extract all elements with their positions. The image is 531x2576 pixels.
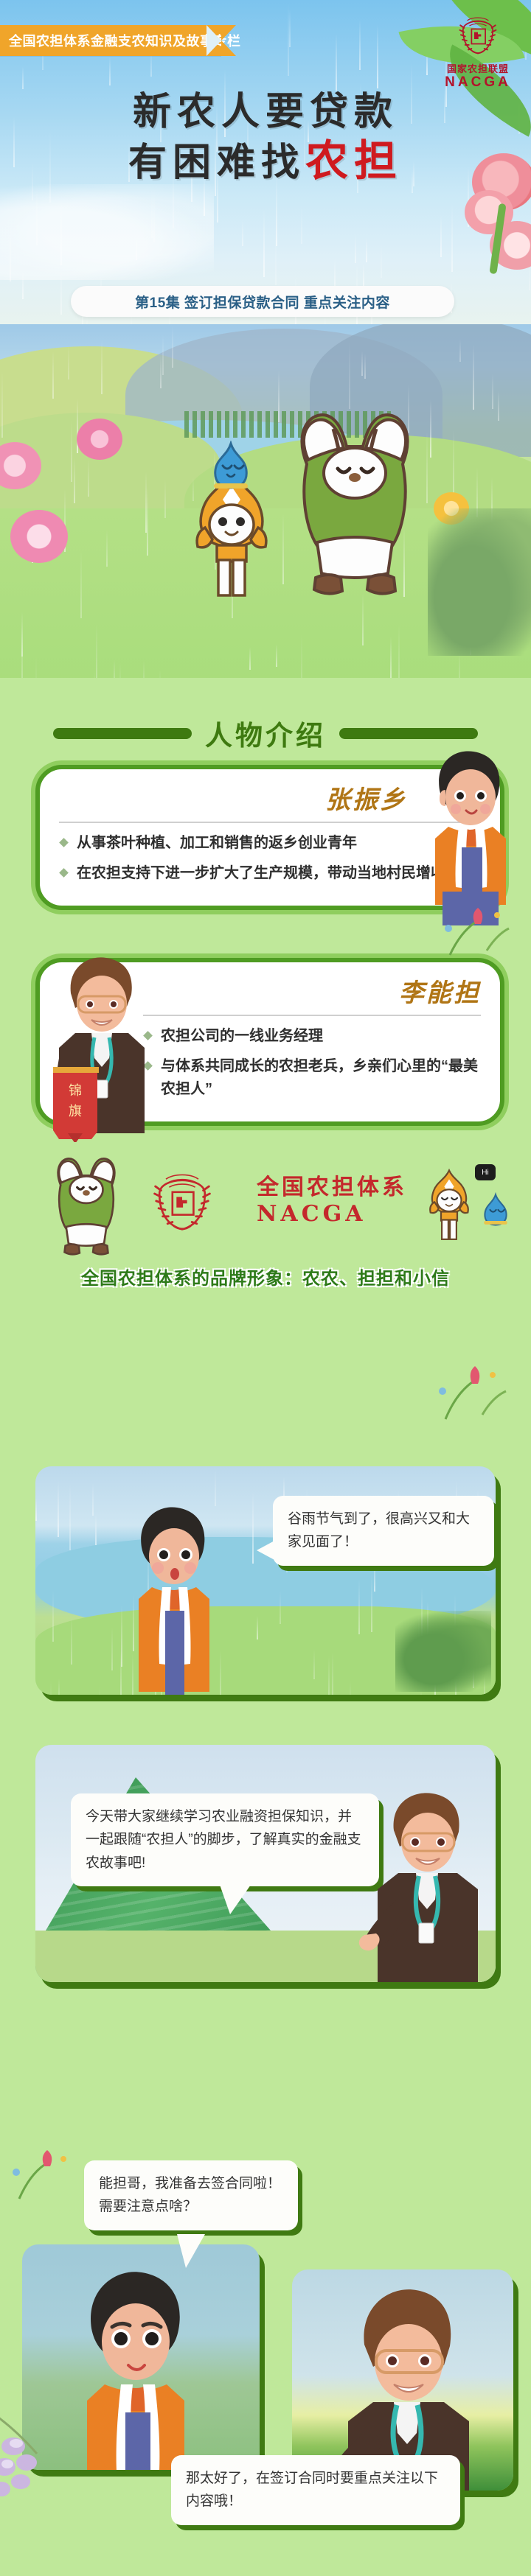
zhangzhenxiang-character <box>117 1502 227 1695</box>
logo-chinese-name: 国家农担联盟 <box>434 63 522 75</box>
ribbon-label: 全国农担体系金融支农知识及故事专栏 <box>0 31 241 50</box>
speech-bubble-4: 那太好了，在签订合同时要重点关注以下内容哦！ <box>171 2455 460 2525</box>
ribbon-tail-decor <box>221 25 236 56</box>
speech-bubble-2: 今天带大家继续学习农业融资担保知识，并一起跟随“农担人”的脚步，了解真实的金融支… <box>71 1793 379 1886</box>
brand-acronym: NACGA <box>257 1201 407 1227</box>
bubble-tail-decor <box>257 1540 276 1561</box>
lotus-decor <box>395 1611 491 1692</box>
characters-section: 人物介绍 张振乡 从事茶叶种植、加工和销售的返乡创业青年 在农担支持下进一步扩大… <box>0 678 531 1459</box>
flower-icon <box>10 510 68 563</box>
mascot-scene <box>0 324 531 678</box>
category-ribbon: 全国农担体系金融支农知识及故事专栏 <box>0 25 221 56</box>
dandan-green-mascot <box>38 1149 134 1264</box>
list-item: 农担公司的一线业务经理 <box>143 1025 481 1048</box>
section-title: 人物介绍 <box>205 713 326 753</box>
episode-label: 第15集 签订担保贷款合同 重点关注内容 <box>135 292 390 312</box>
flower-sprig-decor <box>435 899 516 962</box>
bubble-text: 今天带大家继续学习农业融资担保知识，并一起跟随“农担人”的脚步，了解真实的金融支… <box>86 1805 364 1875</box>
flower-sprig-decor <box>6 2144 80 2207</box>
xiaoxin-blue-mascot <box>478 1192 513 1237</box>
nacga-logo: 国家农担联盟 NACGA <box>434 9 522 90</box>
comic-panel-2: 今天带大家继续学习农业融资担保知识，并一起跟随“农担人”的脚步，了解真实的金融支… <box>35 1745 496 1982</box>
linengdan-avatar: 锦 旗 <box>46 951 156 1146</box>
hi-label: Hi <box>482 1169 488 1177</box>
character-bullets: 农担公司的一线业务经理 与体系共同成长的农担老兵，乡亲们心里的“最美农担人” <box>143 1025 481 1101</box>
nongnong-orange-mascot <box>420 1167 478 1252</box>
headline-line-2-black: 有困难找 <box>128 140 305 185</box>
bubble-text: 那太好了，在签订合同时要重点关注以下内容哦！ <box>186 2467 445 2513</box>
brand-caption-text: 全国农担体系的品牌形象：农农、担担和小信 <box>81 1269 450 1289</box>
cloud-decor <box>0 184 214 280</box>
list-item: 与体系共同成长的农担老兵，乡亲们心里的“最美农担人” <box>143 1055 481 1101</box>
dandan-green-mascot <box>285 398 425 608</box>
title-bar-right-decor <box>339 728 478 739</box>
brand-chinese-name: 全国农担体系 <box>257 1169 407 1201</box>
speech-bubble-3: 能担哥，我准备去签合同啦！需要注意点啥？ <box>84 2160 298 2230</box>
headline-line-2: 有困难找农担 <box>0 135 531 187</box>
divider <box>143 1015 481 1016</box>
hi-bubble: Hi <box>475 1164 496 1180</box>
comic-panel-1: 谷雨节气到了，很高兴又和大家见面了！ <box>35 1466 496 1695</box>
page-title: 新农人要贷款 有困难找农担 <box>0 88 531 187</box>
ribbon-notch-decor <box>206 25 221 56</box>
title-bar-left-decor <box>53 728 192 739</box>
bubble-text: 谷雨节气到了，很高兴又和大家见面了！ <box>288 1508 479 1554</box>
headline-line-1: 新农人要贷款 <box>0 88 531 135</box>
xiaoxin-blue-mascot <box>205 441 257 503</box>
comic-section: 谷雨节气到了，很高兴又和大家见面了！ 今天带大家继续学习农业融资担保知识，并一起… <box>0 1459 531 2576</box>
episode-pill: 第15集 签订担保贷款合同 重点关注内容 <box>71 286 454 317</box>
poster-page: 全国农担体系金融支农知识及故事专栏 <box>0 0 531 2576</box>
brand-text: 全国农担体系 NACGA <box>257 1169 407 1227</box>
bubble-tail-decor <box>177 2234 205 2268</box>
bubble-tail-decor <box>220 1885 251 1914</box>
character-name: 李能担 <box>143 973 481 1009</box>
linengdan-character <box>353 1788 493 1982</box>
flower-sprig-decor <box>428 1356 509 1426</box>
nacga-emblem-icon <box>142 1161 223 1246</box>
flower-icon <box>77 419 122 460</box>
brand-caption: 全国农担体系的品牌形象：农农、担担和小信 <box>0 1264 531 1289</box>
hero-banner: 全国农担体系金融支农知识及故事专栏 <box>0 0 531 324</box>
brand-row: 全国农担体系 NACGA Hi <box>0 1149 531 1260</box>
bubble-text: 能担哥，我准备去签合同啦！需要注意点啥？ <box>99 2172 283 2219</box>
wisteria-decor <box>0 2408 106 2515</box>
speech-bubble-1: 谷雨节气到了，很高兴又和大家见面了！ <box>273 1496 494 1566</box>
svg-text:锦: 锦 <box>69 1083 82 1099</box>
bush-decor <box>428 508 531 656</box>
headline-line-2-red: 农担 <box>305 136 403 186</box>
svg-text:旗: 旗 <box>69 1104 82 1119</box>
nacga-emblem-icon <box>451 9 504 62</box>
